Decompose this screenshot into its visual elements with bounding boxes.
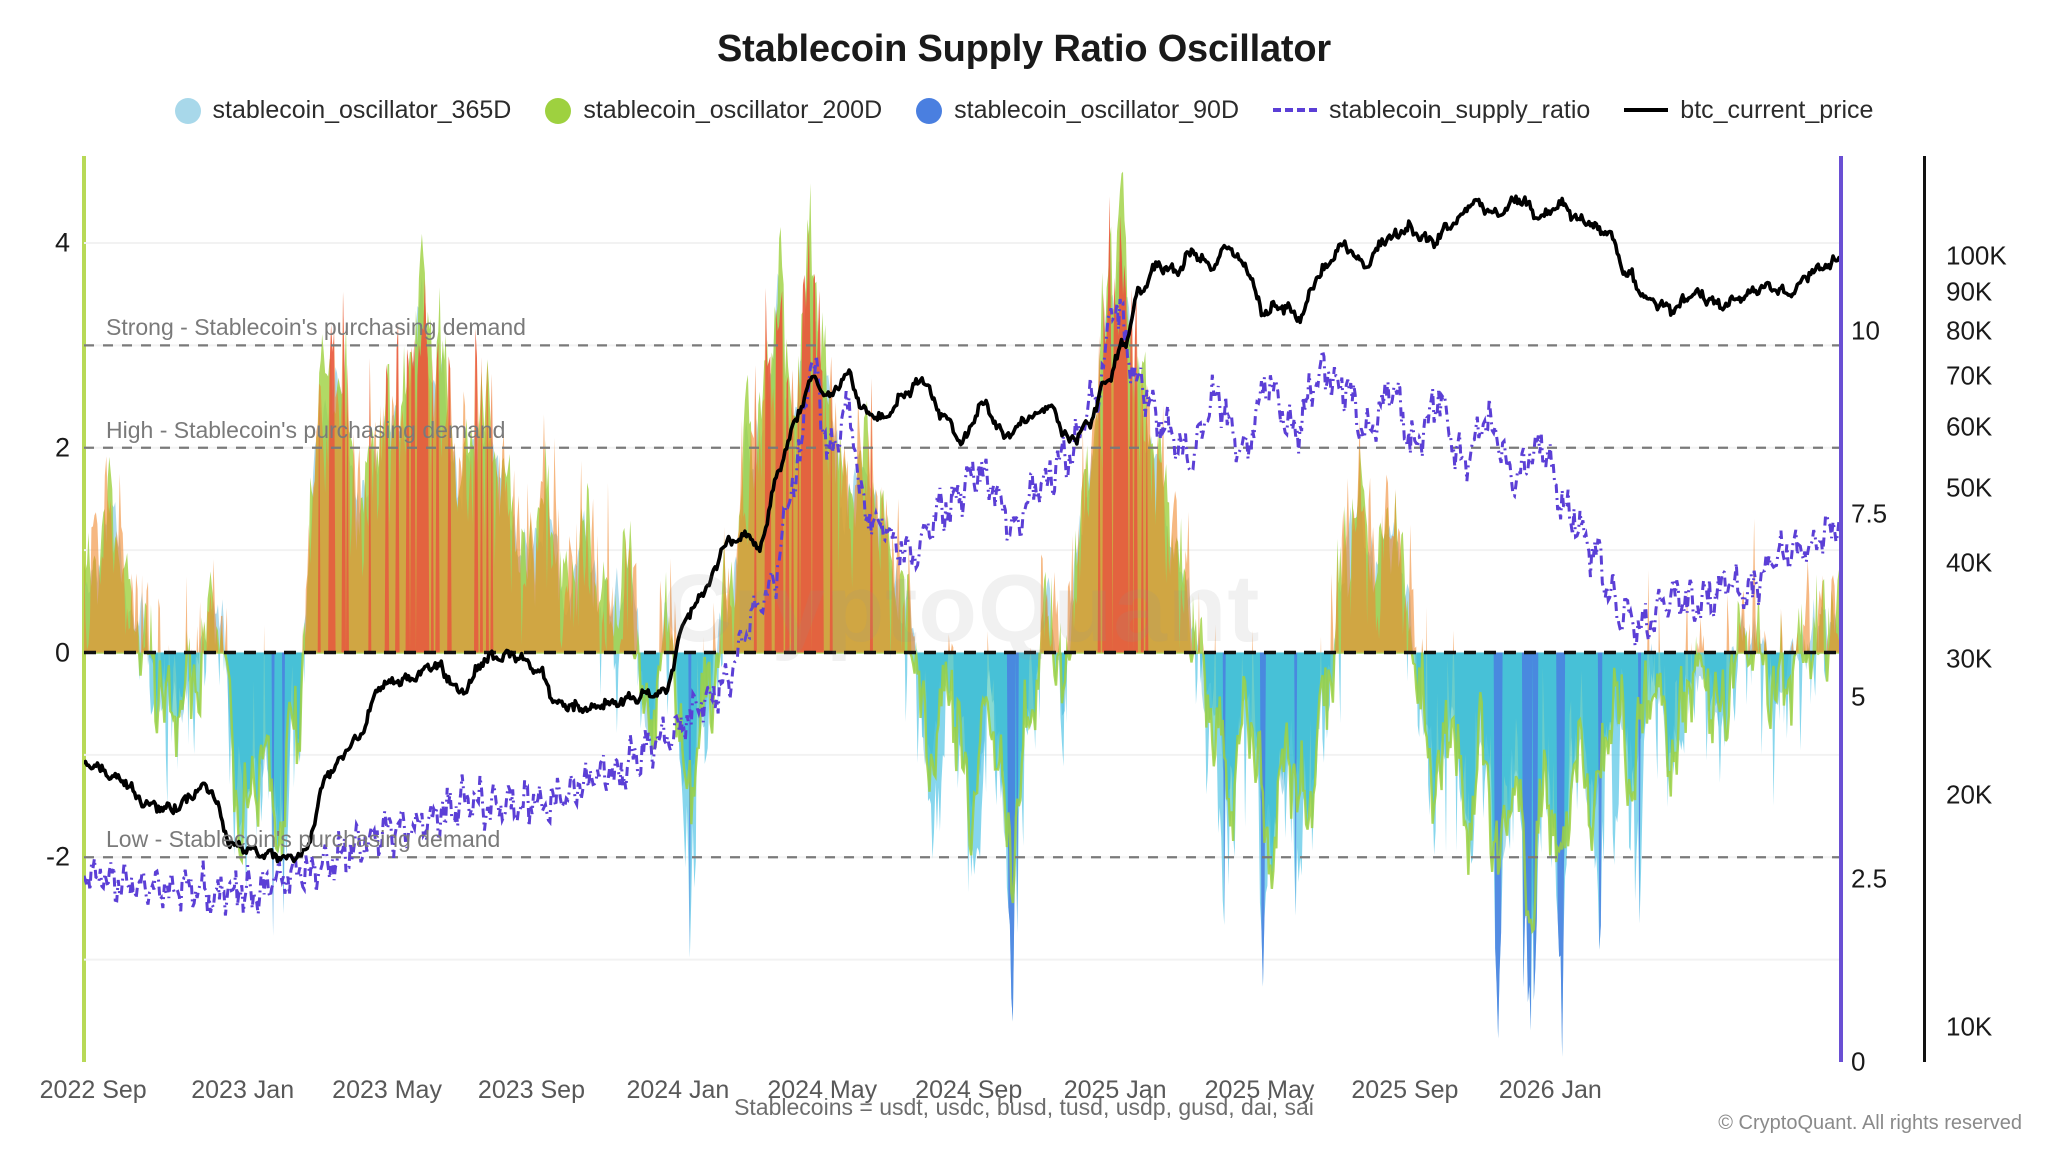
left-axis-tick-label: -2 bbox=[0, 842, 70, 873]
right-price-tick-label: 60K bbox=[1946, 412, 1992, 443]
left-axis-tick-label: 4 bbox=[0, 228, 70, 259]
legend-item-label: stablecoin_oscillator_365D bbox=[213, 96, 512, 125]
right-ratio-tick-label: 10 bbox=[1851, 316, 1880, 347]
left-axis-ticks: 420-2 bbox=[0, 156, 70, 1062]
right-price-tick-label: 100K bbox=[1946, 241, 2007, 272]
page-title: Stablecoin Supply Ratio Oscillator bbox=[0, 28, 2048, 71]
right-ratio-tick-label: 2.5 bbox=[1851, 864, 1887, 895]
right-price-tick-label: 40K bbox=[1946, 547, 1992, 578]
right-price-tick-label: 30K bbox=[1946, 644, 1992, 675]
left-axis-tick-label: 0 bbox=[0, 637, 70, 668]
legend-item-label: stablecoin_oscillator_90D bbox=[954, 96, 1239, 125]
chart-canvas bbox=[84, 156, 1839, 1062]
legend-circle-icon bbox=[916, 98, 942, 124]
legend-item-2[interactable]: stablecoin_oscillator_90D bbox=[916, 96, 1239, 125]
right-ratio-tick-label: 7.5 bbox=[1851, 499, 1887, 530]
legend-dashdot-line-icon bbox=[1273, 108, 1317, 112]
chart-page: Stablecoin Supply Ratio Oscillator stabl… bbox=[0, 0, 2048, 1152]
right-price-axis-ticks: 100K90K80K70K60K50K40K30K20K10K bbox=[1930, 156, 2040, 1062]
threshold-label: Low - Stablecoin's purchasing demand bbox=[106, 826, 500, 853]
legend-item-1[interactable]: stablecoin_oscillator_200D bbox=[545, 96, 882, 125]
right-ratio-axis-ticks: 107.552.50 bbox=[1845, 156, 1915, 1062]
legend-item-label: stablecoin_oscillator_200D bbox=[583, 96, 882, 125]
legend-circle-icon bbox=[545, 98, 571, 124]
chart-legend: stablecoin_oscillator_365Dstablecoin_osc… bbox=[0, 96, 2048, 125]
left-axis-tick-label: 2 bbox=[0, 432, 70, 463]
legend-item-4[interactable]: btc_current_price bbox=[1624, 96, 1873, 125]
right-price-tick-label: 10K bbox=[1946, 1011, 1992, 1042]
copyright-text: © CryptoQuant. All rights reserved bbox=[1718, 1112, 2022, 1135]
threshold-label: Strong - Stablecoin's purchasing demand bbox=[106, 314, 526, 341]
legend-solid-line-icon bbox=[1624, 108, 1668, 112]
right-price-tick-label: 90K bbox=[1946, 276, 1992, 307]
right-ratio-tick-label: 5 bbox=[1851, 681, 1865, 712]
right-price-tick-label: 20K bbox=[1946, 779, 1992, 810]
legend-item-0[interactable]: stablecoin_oscillator_365D bbox=[175, 96, 512, 125]
right-price-axis-spine bbox=[1923, 156, 1926, 1062]
plot-area bbox=[84, 156, 1839, 1062]
right-ratio-tick-label: 0 bbox=[1851, 1047, 1865, 1078]
right-price-tick-label: 50K bbox=[1946, 473, 1992, 504]
legend-item-label: stablecoin_supply_ratio bbox=[1329, 96, 1590, 125]
right-ratio-axis-spine bbox=[1839, 156, 1843, 1062]
right-price-tick-label: 70K bbox=[1946, 360, 1992, 391]
legend-item-3[interactable]: stablecoin_supply_ratio bbox=[1273, 96, 1590, 125]
legend-item-label: btc_current_price bbox=[1680, 96, 1873, 125]
right-price-tick-label: 80K bbox=[1946, 316, 1992, 347]
threshold-label: High - Stablecoin's purchasing demand bbox=[106, 417, 505, 444]
legend-circle-icon bbox=[175, 98, 201, 124]
